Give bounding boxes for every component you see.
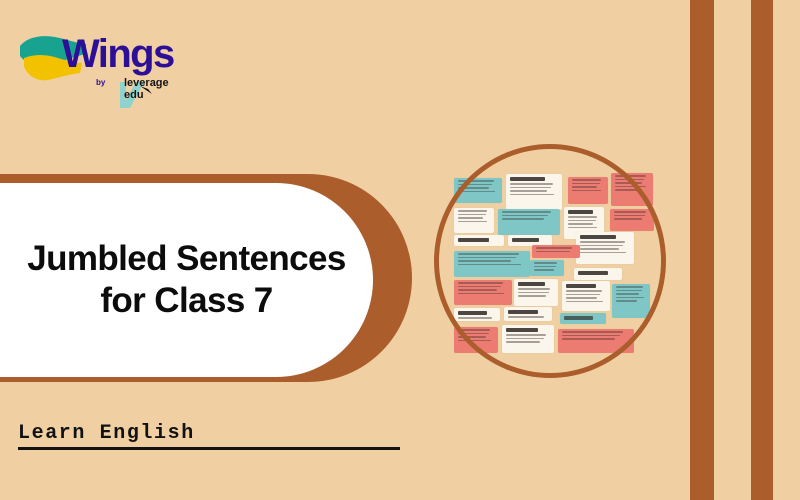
circle-frame-ring: [434, 144, 666, 378]
banner-canvas: Wings by leverage edu Jumbled Sentences …: [0, 0, 800, 500]
logo-wordmark: Wings: [62, 32, 174, 77]
decor-stripe-1: [690, 0, 714, 500]
title-panel: Jumbled Sentences for Class 7: [0, 183, 373, 377]
brand-logo[interactable]: Wings by leverage edu: [14, 16, 184, 111]
footer-divider: [18, 447, 400, 450]
page-title: Jumbled Sentences for Class 7: [17, 238, 357, 322]
decor-stripe-2: [751, 0, 773, 500]
page-title-line-2: for Class 7: [100, 281, 272, 320]
logo-by-label: by: [96, 78, 105, 87]
footer-category-label: Learn English: [18, 422, 403, 445]
footer-category-block: Learn English: [18, 422, 403, 450]
logo-parent-brand: leverage edu: [124, 78, 184, 101]
page-title-line-1: Jumbled Sentences: [27, 239, 346, 278]
illustration-circle: [434, 144, 666, 378]
